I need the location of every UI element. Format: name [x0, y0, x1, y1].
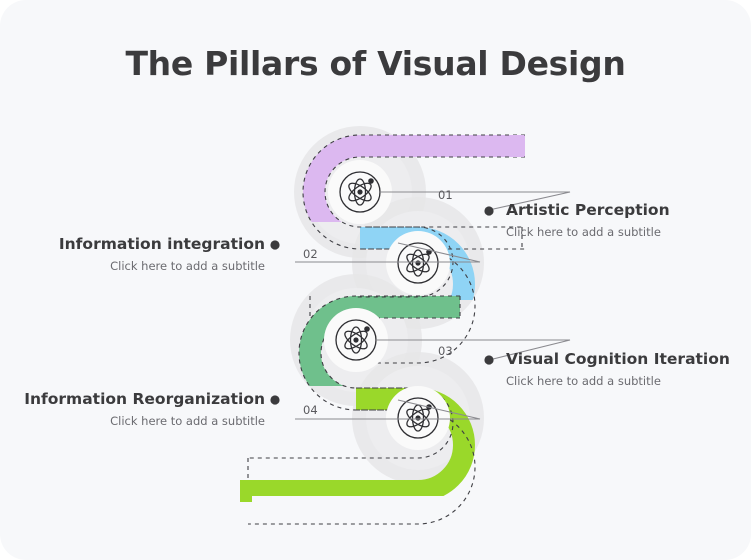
node-2[interactable] — [386, 231, 450, 295]
bullet-dot — [484, 206, 493, 215]
step-label-01[interactable]: Artistic Perception Click here to add a … — [506, 201, 670, 239]
step-subtitle-02[interactable]: Click here to add a subtitle — [59, 259, 265, 273]
step-label-03[interactable]: Visual Cognition Iteration Click here to… — [506, 350, 730, 388]
serpentine-ribbon-diagram — [0, 0, 751, 560]
step-subtitle-01[interactable]: Click here to add a subtitle — [506, 225, 670, 239]
step-title-02: Information integration — [59, 235, 265, 253]
step-title-03: Visual Cognition Iteration — [506, 350, 730, 368]
step-subtitle-04[interactable]: Click here to add a subtitle — [24, 414, 265, 428]
step-title-01: Artistic Perception — [506, 201, 670, 219]
node-4[interactable] — [386, 386, 450, 450]
step-number-03: 03 — [438, 344, 453, 358]
bullet-dot — [270, 240, 279, 249]
step-number-02: 02 — [303, 247, 318, 261]
bullet-dot — [484, 355, 493, 364]
step-subtitle-03[interactable]: Click here to add a subtitle — [506, 374, 730, 388]
step-title-04: Information Reorganization — [24, 390, 265, 408]
step-number-04: 04 — [303, 403, 318, 417]
step-label-02[interactable]: Information integration Click here to ad… — [59, 235, 265, 273]
slide-card: The Pillars of Visual Design — [0, 0, 751, 560]
step-number-01: 01 — [438, 188, 453, 202]
step-label-04[interactable]: Information Reorganization Click here to… — [24, 390, 265, 428]
bullet-dot — [270, 395, 279, 404]
